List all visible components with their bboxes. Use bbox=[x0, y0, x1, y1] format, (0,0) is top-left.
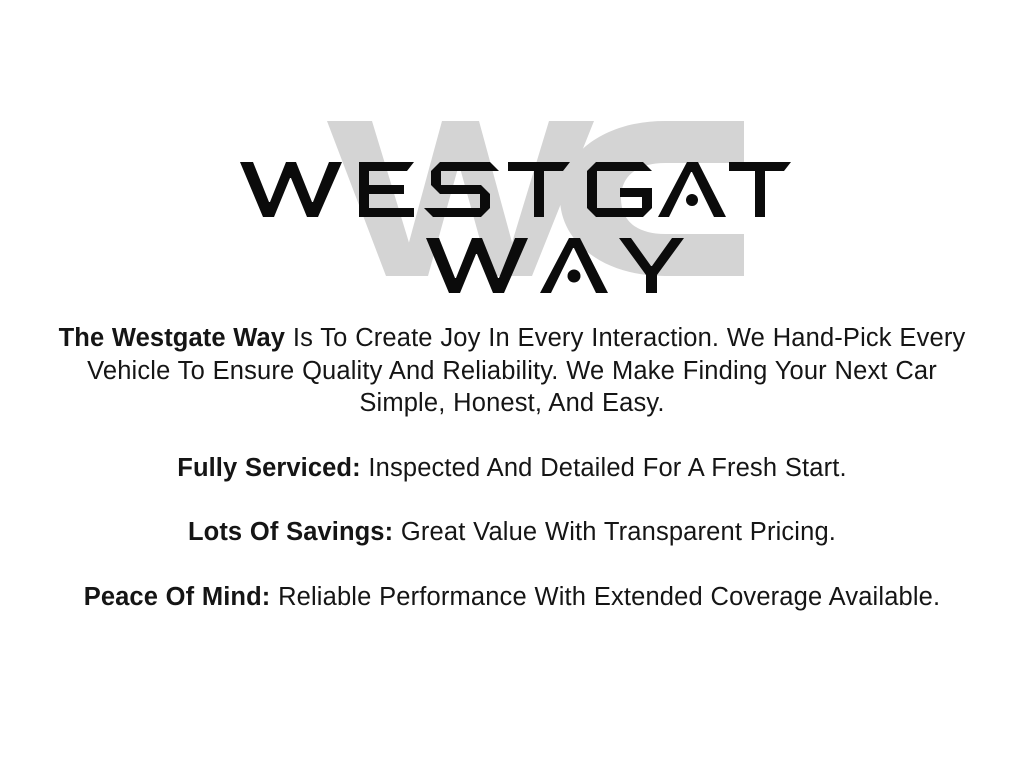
benefit-term: Lots Of Savings: bbox=[188, 518, 393, 546]
logo-wordmark-westgate bbox=[240, 162, 792, 217]
logo-block bbox=[0, 96, 1024, 296]
marketing-slide: The Westgate Way Is To Create Joy In Eve… bbox=[0, 0, 1024, 768]
intro-lead: The Westgate Way bbox=[59, 324, 285, 352]
benefit-lots-of-savings: Lots Of Savings: Great Value With Transp… bbox=[14, 516, 1010, 549]
benefit-fully-serviced: Fully Serviced: Inspected And Detailed F… bbox=[14, 452, 1010, 485]
benefit-term: Fully Serviced: bbox=[177, 454, 360, 482]
benefit-description: Reliable Performance With Extended Cover… bbox=[270, 583, 940, 611]
intro-paragraph: The Westgate Way Is To Create Joy In Eve… bbox=[14, 322, 1010, 420]
body-copy: The Westgate Way Is To Create Joy In Eve… bbox=[0, 322, 1024, 613]
westgate-way-logo bbox=[232, 96, 792, 296]
benefit-term: Peace Of Mind: bbox=[84, 583, 271, 611]
benefit-description: Inspected And Detailed For A Fresh Start… bbox=[361, 454, 847, 482]
benefit-peace-of-mind: Peace Of Mind: Reliable Performance With… bbox=[14, 581, 1010, 614]
benefit-description: Great Value With Transparent Pricing. bbox=[393, 518, 836, 546]
